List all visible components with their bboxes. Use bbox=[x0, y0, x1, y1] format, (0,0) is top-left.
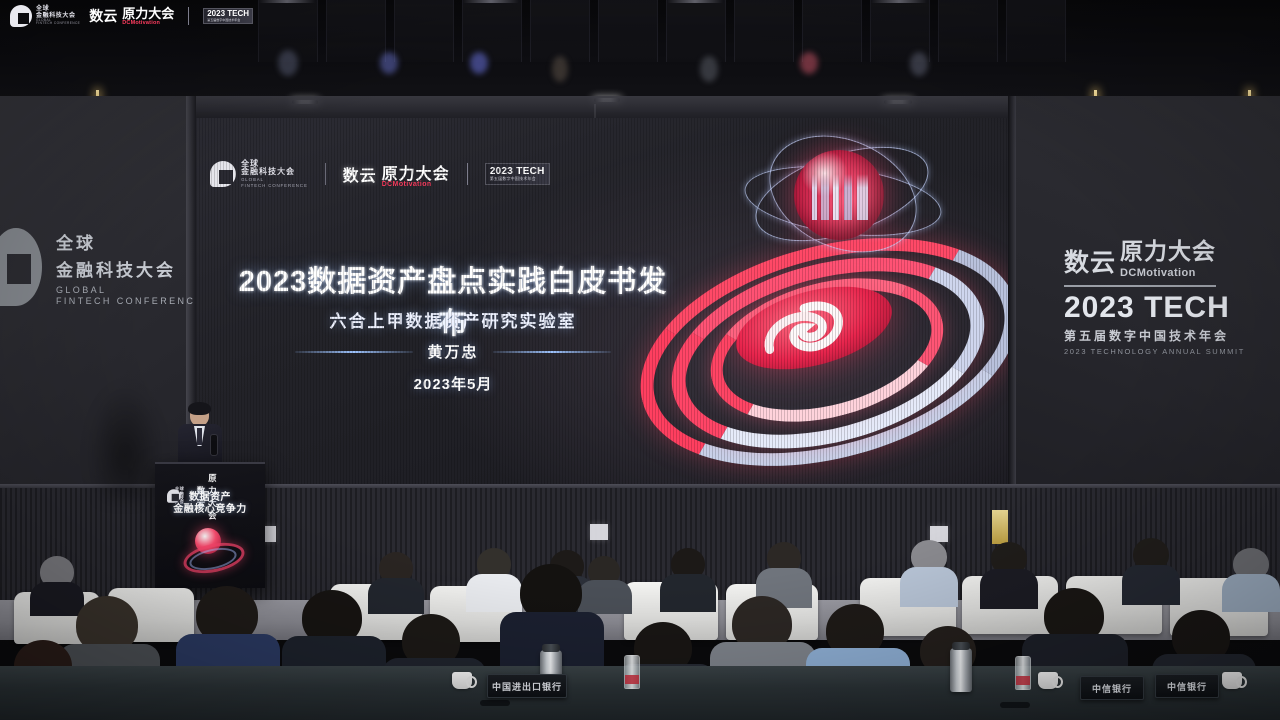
sign-right-yuanli: 原力大会 bbox=[1120, 238, 1216, 264]
sign-right-cn-summit: 第五届数字中国技术年会 bbox=[1064, 327, 1245, 344]
ceiling-truss bbox=[326, 0, 386, 62]
watermark-tech-badge: 2023 TECH 第五届数字中国技术年会 bbox=[203, 8, 253, 24]
slide-speaker-row: 黄万忠 bbox=[238, 341, 668, 362]
slide-rule-left bbox=[295, 351, 413, 353]
slide-fintech-logo-text: 全球 金融科技大会 GLOBAL FINTECH CONFERENCE bbox=[241, 160, 308, 188]
shuyun-lockup: 数云 原力大会 DCMotivation bbox=[1064, 232, 1245, 279]
wall-left-signage: 全球 金融科技大会 GLOBAL FINTECH CONFERENCE bbox=[0, 228, 204, 306]
audience-member bbox=[660, 548, 716, 600]
sign-left-en-line1: GLOBAL bbox=[56, 285, 204, 295]
namecard-label: 中国进出口银行 bbox=[492, 680, 562, 693]
sign-right-en: DCMotivation bbox=[1120, 267, 1216, 279]
watermark-shuyun-cn: 数云 bbox=[89, 6, 117, 26]
watermark-tech-sub: 第五届数字中国技术年会 bbox=[207, 19, 249, 22]
podium-headline-line2: 金融核心竞争力 bbox=[155, 500, 265, 515]
watermark-shuyun-logo: 数云 原力大会 DCMotivation bbox=[89, 6, 174, 26]
table-namecard: 中国进出口银行 bbox=[487, 674, 567, 698]
audience-body bbox=[900, 567, 958, 607]
table-namecard: 中信银行 bbox=[1080, 676, 1144, 700]
stage-front-amber-light bbox=[992, 510, 1008, 544]
watermark-fintech-en2: FINTECH CONFERENCE bbox=[36, 22, 80, 25]
conference-stage-scene: 全球 金融科技大会 GLOBAL FINTECH CONFERENCE 数云 原… bbox=[0, 0, 1280, 720]
slide-logo-fintech-en2: FINTECH CONFERENCE bbox=[241, 184, 308, 189]
tea-cup bbox=[1222, 672, 1242, 689]
fintech-logo-icon bbox=[0, 228, 42, 306]
fintech-logo-icon bbox=[210, 161, 236, 187]
speaker-hair bbox=[188, 402, 211, 415]
ceiling-truss bbox=[462, 0, 522, 62]
tea-cup bbox=[452, 672, 472, 689]
sign-left-cn-line1: 全球 bbox=[56, 229, 204, 254]
watermark-shuyun-yuan: 原力大会 bbox=[122, 7, 174, 20]
watermark-divider bbox=[188, 7, 189, 25]
namecard-label: 中信银行 bbox=[1092, 682, 1132, 695]
slide-date: 2023年5月 bbox=[238, 373, 668, 394]
sign-left-en-line2: FINTECH CONFERENCE bbox=[56, 296, 204, 306]
sign-right-divider bbox=[1064, 285, 1216, 287]
podium: 全球 金融科技大会 数云 原力大会 数据资产 金融核心竞争力 bbox=[155, 462, 265, 588]
watermark-fintech-logo: 全球 金融科技大会 GLOBAL FINTECH CONFERENCE bbox=[10, 5, 80, 27]
stage-light bbox=[910, 52, 928, 76]
podium-artwork bbox=[183, 524, 239, 570]
slide-3d-artwork bbox=[626, 128, 1008, 468]
led-presentation-screen: 全球 金融科技大会 GLOBAL FINTECH CONFERENCE 数云 原… bbox=[196, 118, 1008, 488]
sign-left-cn-line2: 金融科技大会 bbox=[56, 256, 204, 281]
slide-fintech-logo: 全球 金融科技大会 GLOBAL FINTECH CONFERENCE bbox=[210, 160, 308, 188]
watermark-shuyun-block: 原力大会 DCMotivation bbox=[122, 7, 174, 26]
truss-highlight bbox=[871, 0, 927, 3]
slide-logo-shuyun-cn: 数云 bbox=[343, 162, 377, 186]
wall-right-signage: 数云 原力大会 DCMotivation 2023 TECH 第五届数字中国技术… bbox=[1064, 232, 1245, 356]
sign-right-year-tech: 2023 TECH bbox=[1064, 291, 1245, 325]
wall-left-signage-text: 全球 金融科技大会 GLOBAL FINTECH CONFERENCE bbox=[56, 229, 204, 306]
ceiling-truss bbox=[394, 0, 454, 62]
slide-logo-bar: 全球 金融科技大会 GLOBAL FINTECH CONFERENCE 数云 原… bbox=[210, 160, 550, 188]
ceiling-truss bbox=[598, 0, 658, 62]
slide-rule-right bbox=[493, 351, 611, 353]
sign-right-en-summit: 2023 TECHNOLOGY ANNUAL SUMMIT bbox=[1064, 347, 1245, 356]
thermos-flask bbox=[950, 648, 972, 692]
stage-front-panel-light bbox=[590, 524, 608, 540]
truss-highlight bbox=[259, 0, 315, 3]
truss-highlight bbox=[667, 0, 723, 3]
water-bottle bbox=[1015, 656, 1031, 690]
audience-body bbox=[1222, 574, 1280, 612]
artwork-skyline bbox=[812, 174, 868, 220]
sign-right-shuyun: 数云 bbox=[1064, 243, 1116, 279]
ceiling-truss bbox=[734, 0, 794, 62]
slide-shuyun-logo: 数云 原力大会 DCMotivation bbox=[343, 160, 450, 188]
fintech-logo-icon bbox=[10, 5, 32, 27]
audience-body bbox=[1122, 565, 1180, 605]
slide-subtitle: 六合上甲数据资产研究实验室 bbox=[238, 307, 668, 332]
slide-logo-divider bbox=[325, 163, 326, 185]
stage-light bbox=[552, 56, 568, 82]
ceiling-truss bbox=[666, 0, 726, 62]
handheld-microphone-icon bbox=[210, 434, 218, 456]
desk-microphone-icon bbox=[1000, 702, 1030, 708]
slide-logo-fintech-cn2: 金融科技大会 bbox=[241, 168, 308, 176]
audience-member bbox=[1222, 548, 1280, 600]
watermark-fintech-text: 全球 金融科技大会 GLOBAL FINTECH CONFERENCE bbox=[36, 6, 80, 25]
table-namecard: 中信银行 bbox=[1155, 674, 1219, 698]
water-bottle bbox=[624, 655, 640, 689]
ceiling-truss bbox=[938, 0, 998, 62]
ceiling-truss bbox=[530, 0, 590, 62]
stage-light bbox=[470, 52, 488, 74]
stage-light bbox=[800, 52, 818, 74]
slide-logo-tech-sub: 第五届数字中国技术年会 bbox=[490, 177, 545, 181]
slide-logo-shuyun-block: 原力大会 DCMotivation bbox=[382, 160, 450, 188]
desk-microphone-icon bbox=[480, 700, 510, 706]
speaker-shadow bbox=[88, 384, 162, 502]
ceiling-truss bbox=[1006, 0, 1066, 62]
broadcast-watermark: 全球 金融科技大会 GLOBAL FINTECH CONFERENCE 数云 原… bbox=[10, 5, 253, 27]
stage-light bbox=[380, 52, 398, 74]
stage-light bbox=[700, 56, 718, 82]
slide-logo-divider bbox=[467, 163, 468, 185]
artwork-globe-icon bbox=[794, 150, 884, 240]
slide-speaker-name: 黄万忠 bbox=[427, 341, 478, 362]
tea-cup bbox=[1038, 672, 1058, 689]
slide-tech-badge: 2023 TECH 第五届数字中国技术年会 bbox=[485, 163, 550, 184]
namecard-label: 中信银行 bbox=[1167, 680, 1207, 693]
audience-body bbox=[660, 574, 716, 612]
truss-highlight bbox=[463, 0, 519, 3]
audience-member bbox=[900, 540, 958, 596]
speaker-tie bbox=[197, 428, 202, 445]
stage-light bbox=[278, 50, 298, 76]
sign-right-yuanli-block: 原力大会 DCMotivation bbox=[1120, 232, 1216, 279]
audience-member bbox=[756, 542, 812, 596]
audience-member bbox=[1122, 538, 1180, 594]
slide-logo-fintech-en1: GLOBAL bbox=[241, 178, 308, 183]
